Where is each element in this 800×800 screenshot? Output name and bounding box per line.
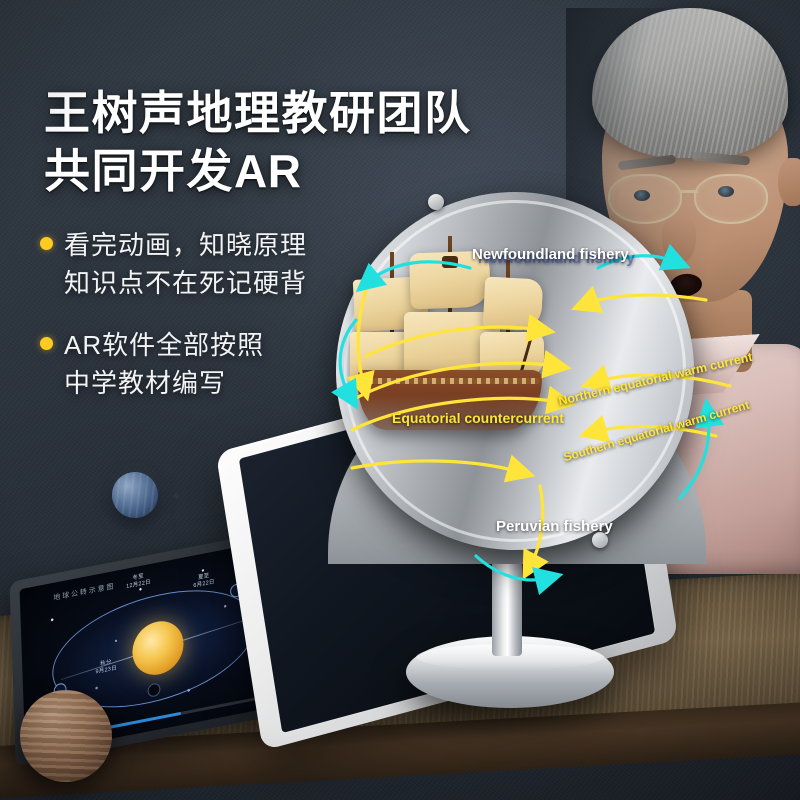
label-peruvian-fishery: Peruvian fishery — [496, 518, 613, 535]
headline-line-2-prefix: 共同开发 — [44, 145, 234, 197]
ship-gun-ports — [360, 378, 540, 384]
bullet-dot-icon — [40, 237, 53, 250]
feature-bullet-2: AR软件全部按照 中学教材编写 — [40, 326, 307, 402]
ship-sail-mizzen-top — [483, 277, 544, 332]
label-equatorial-countercurrent: Equatorial countercurrent — [392, 410, 564, 426]
teacher-hair — [592, 8, 788, 158]
ar-globe-assembly[interactable] — [320, 196, 740, 756]
bullet-dot-icon — [40, 337, 53, 350]
feature-bullet-1-line-1: 看完动画，知晓原理 — [64, 230, 307, 260]
feature-bullet-2-line-1: AR软件全部按照 — [64, 330, 264, 360]
glasses-bridge — [680, 190, 698, 193]
product-poster: 王树声地理教研团队 共同开发AR 看完动画，知晓原理 知识点不在死记硬背 AR软… — [0, 0, 800, 800]
planet-neptune — [112, 472, 158, 518]
feature-bullet-2-text: AR软件全部按照 中学教材编写 — [64, 326, 264, 402]
label-newfoundland-fishery: Newfoundland fishery — [472, 246, 629, 263]
feature-bullet-2-line-2: 中学教材编写 — [64, 368, 226, 398]
headline-line-1: 王树声地理教研团队 — [44, 84, 472, 142]
headline-block: 王树声地理教研团队 共同开发AR — [44, 84, 472, 200]
feature-bullet-1: 看完动画，知晓原理 知识点不在死记硬背 — [40, 226, 307, 302]
ship-crows-nest — [442, 256, 458, 268]
feature-bullet-1-line-2: 知识点不在死记硬背 — [64, 268, 307, 298]
feature-bullet-list: 看完动画，知晓原理 知识点不在死记硬背 AR软件全部按照 中学教材编写 — [40, 226, 307, 426]
headline-ar-text: AR — [234, 145, 301, 197]
planet-jupiter — [20, 690, 112, 782]
headline-line-2: 共同开发AR — [44, 142, 472, 200]
feature-bullet-1-text: 看完动画，知晓原理 知识点不在死记硬背 — [64, 226, 307, 302]
